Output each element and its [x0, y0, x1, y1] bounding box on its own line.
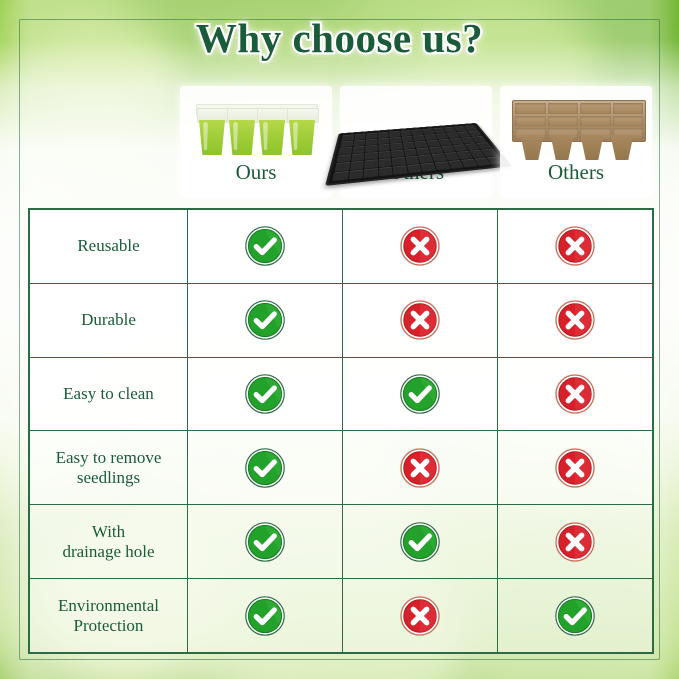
red-cross-icon	[554, 225, 596, 267]
green-check-icon	[554, 595, 596, 637]
green-check-icon	[399, 521, 441, 563]
comparison-cell	[188, 505, 343, 579]
comparison-infographic: Why choose us? Ours	[0, 0, 679, 679]
comparison-cell	[343, 579, 498, 653]
product-header-row: Ours Others	[0, 86, 679, 198]
table-row: Withdrainage hole	[30, 505, 653, 579]
table-row: Reusable	[30, 210, 653, 284]
green-check-icon	[399, 521, 441, 563]
feature-label-line: Environmental	[30, 596, 187, 616]
comparison-cell	[188, 579, 343, 653]
red-cross-icon	[399, 595, 441, 637]
product-card-ours: Ours	[180, 86, 332, 198]
red-cross-icon	[399, 299, 441, 341]
green-plastic-pots-icon	[196, 100, 316, 156]
comparison-cell	[343, 210, 498, 284]
red-cross-icon	[554, 447, 596, 489]
feature-label-line: seedlings	[30, 468, 187, 488]
comparison-cell	[343, 505, 498, 579]
feature-label-line: drainage hole	[30, 542, 187, 562]
red-cross-icon	[399, 299, 441, 341]
table-row: EnvironmentalProtection	[30, 579, 653, 653]
green-check-icon	[244, 225, 286, 267]
peat-fiber-tray-icon	[512, 100, 640, 160]
feature-label: Withdrainage hole	[30, 505, 188, 579]
comparison-cell	[498, 431, 653, 505]
comparison-cell	[188, 210, 343, 284]
green-check-icon	[244, 373, 286, 415]
product-card-others-1: Others	[340, 86, 492, 198]
product-image-peat-tray	[500, 86, 652, 164]
green-check-icon	[244, 373, 286, 415]
feature-label: Easy to clean	[30, 357, 188, 431]
feature-label-line: Easy to clean	[30, 384, 187, 404]
green-check-icon	[244, 521, 286, 563]
table-row: Durable	[30, 283, 653, 357]
red-cross-icon	[554, 299, 596, 341]
red-cross-icon	[554, 373, 596, 415]
red-cross-icon	[554, 521, 596, 563]
green-check-icon	[244, 299, 286, 341]
product-image-ours	[180, 86, 332, 164]
feature-label-line: Protection	[30, 616, 187, 636]
green-check-icon	[244, 595, 286, 637]
column-label-ours: Ours	[236, 162, 277, 183]
red-cross-icon	[554, 521, 596, 563]
feature-label: Durable	[30, 283, 188, 357]
feature-label: Easy to removeseedlings	[30, 431, 188, 505]
feature-label-line: Easy to remove	[30, 448, 187, 468]
red-cross-icon	[554, 447, 596, 489]
table-row: Easy to removeseedlings	[30, 431, 653, 505]
green-check-icon	[399, 373, 441, 415]
comparison-cell	[188, 431, 343, 505]
red-cross-icon	[554, 299, 596, 341]
product-image-black-tray	[340, 86, 492, 164]
comparison-cell	[498, 210, 653, 284]
green-check-icon	[244, 521, 286, 563]
red-cross-icon	[399, 447, 441, 489]
feature-label: Reusable	[30, 210, 188, 284]
feature-label-line: Durable	[30, 310, 187, 330]
red-cross-icon	[399, 225, 441, 267]
red-cross-icon	[399, 225, 441, 267]
green-check-icon	[244, 447, 286, 489]
comparison-cell	[188, 283, 343, 357]
red-cross-icon	[399, 447, 441, 489]
title-container: Why choose us?	[0, 14, 679, 62]
page-title: Why choose us?	[196, 14, 483, 62]
comparison-cell	[498, 505, 653, 579]
green-check-icon	[244, 447, 286, 489]
comparison-cell	[188, 357, 343, 431]
comparison-cell	[498, 283, 653, 357]
comparison-cell	[343, 431, 498, 505]
comparison-cell	[498, 357, 653, 431]
comparison-cell	[498, 579, 653, 653]
green-check-icon	[244, 299, 286, 341]
green-check-icon	[554, 595, 596, 637]
product-card-others-2: Others	[500, 86, 652, 198]
red-cross-icon	[554, 225, 596, 267]
red-cross-icon	[399, 595, 441, 637]
feature-label-line: Reusable	[30, 236, 187, 256]
feature-label-line: With	[30, 522, 187, 542]
red-cross-icon	[554, 373, 596, 415]
table-row: Easy to clean	[30, 357, 653, 431]
comparison-cell	[343, 283, 498, 357]
feature-label: EnvironmentalProtection	[30, 579, 188, 653]
comparison-cell	[343, 357, 498, 431]
column-label-others-2: Others	[548, 162, 604, 183]
green-check-icon	[244, 225, 286, 267]
comparison-table: ReusableDurableEasy to cleanEasy to remo…	[28, 208, 654, 654]
green-check-icon	[244, 595, 286, 637]
green-check-icon	[399, 373, 441, 415]
